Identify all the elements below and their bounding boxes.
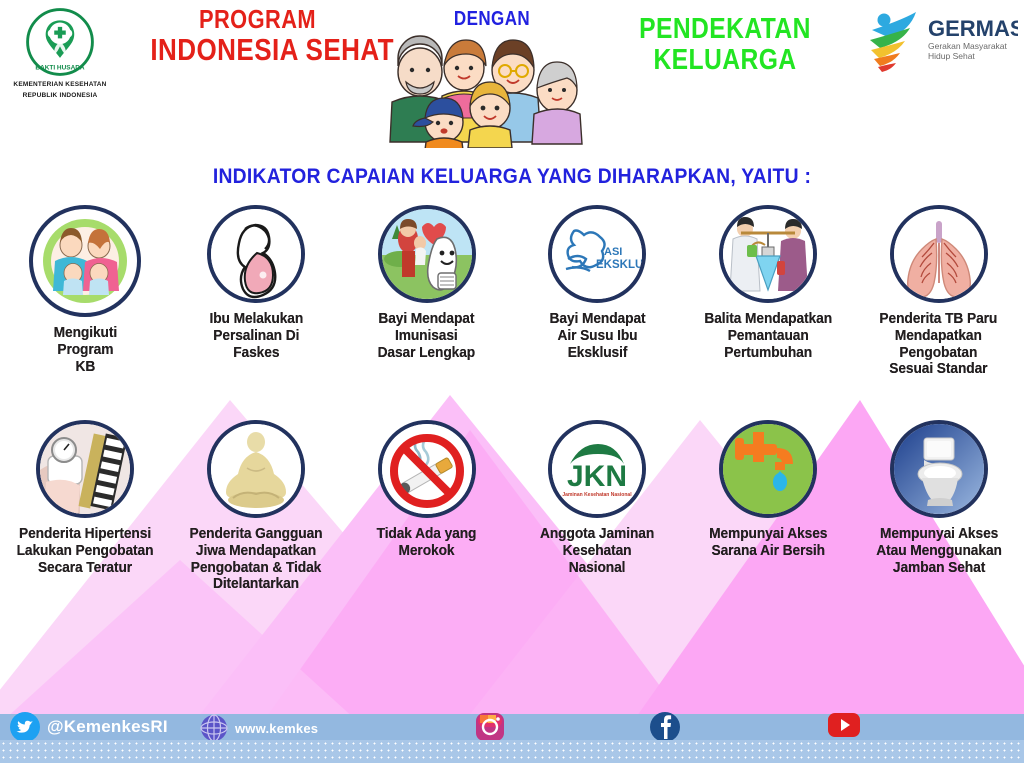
indicator-caption: Penderita HipertensiLakukan PengobatanSe…	[17, 526, 154, 576]
baby-weighing-scale-icon	[719, 205, 817, 303]
indicator-item[interactable]: ASI EKSKLUSIF Bayi MendapatAir Susu IbuE…	[512, 205, 683, 378]
facebook-group[interactable]	[650, 712, 680, 742]
ministry-logo-block: BAKTI HUSADA KEMENTERIAN KESEHATAN REPUB…	[4, 6, 116, 100]
indicator-caption: Anggota JaminanKesehatanNasional	[540, 526, 654, 576]
asi-icon-text-1: ASI	[604, 246, 622, 258]
water-tap-icon	[719, 420, 817, 518]
indicator-caption: Penderita TB ParuMendapatkan PengobatanS…	[858, 311, 1020, 378]
indicator-caption: MengikutiProgramKB	[54, 325, 117, 375]
indicator-item[interactable]: Balita MendapatkanPemantauanPertumbuhan	[683, 205, 854, 378]
indicator-item[interactable]: JKN Jaminan Kesehatan Nasional Anggota J…	[512, 420, 683, 593]
title-left-line2: INDONESIA SEHAT	[150, 34, 364, 67]
website-group[interactable]: www.kemkes	[200, 714, 318, 742]
jkn-tagline: Jaminan Kesehatan Nasional	[563, 492, 633, 498]
jkn-logo-icon: JKN Jaminan Kesehatan Nasional	[548, 420, 646, 518]
section-title: INDIKATOR CAPAIAN KELUARGA YANG DIHARAPK…	[41, 165, 983, 189]
indicator-item[interactable]: MengikutiProgramKB	[0, 205, 171, 378]
svg-text:BAKTI HUSADA: BAKTI HUSADA	[35, 64, 85, 71]
family-illustration	[382, 26, 587, 148]
lungs-icon	[890, 205, 988, 303]
blood-pressure-monitor-icon	[36, 420, 134, 518]
germas-tagline-2: Hidup Sehat	[928, 51, 975, 61]
pregnant-woman-icon	[207, 205, 305, 303]
title-right-line1: PENDEKATAN	[619, 14, 832, 45]
header: BAKTI HUSADA KEMENTERIAN KESEHATAN REPUB…	[0, 0, 1024, 155]
indicator-caption: Mempunyai AksesSarana Air Bersih	[709, 526, 827, 560]
germas-wordmark: GERMAS	[928, 16, 1018, 41]
indicator-caption: Mempunyai AksesAtau MenggunakanJamban Se…	[876, 526, 1002, 576]
indicator-item[interactable]: Mempunyai AksesSarana Air Bersih	[683, 420, 854, 593]
instagram-icon[interactable]	[475, 712, 505, 742]
footer-bottom-strip	[0, 740, 1024, 763]
twitter-handle-group[interactable]: @KemenkesRI	[10, 712, 168, 742]
no-smoking-icon	[378, 420, 476, 518]
youtube-group[interactable]	[828, 712, 860, 738]
indicator-item[interactable]: Penderita HipertensiLakukan PengobatanSe…	[0, 420, 171, 593]
title-left-line1: PROGRAM	[150, 6, 364, 34]
indicator-caption: Tidak Ada yangMerokok	[377, 526, 477, 560]
indicator-caption: Balita MendapatkanPemantauanPertumbuhan	[704, 311, 832, 361]
bakti-husada-logo: BAKTI HUSADA	[24, 6, 96, 78]
title-right-line2: KELUARGA	[619, 45, 832, 76]
meditation-figure-icon	[207, 420, 305, 518]
title-program-indonesia-sehat: PROGRAM INDONESIA SEHAT	[150, 6, 364, 66]
ministry-caption-line1: KEMENTERIAN KESEHATAN	[4, 81, 116, 89]
germas-tagline-1: Gerakan Masyarakat	[928, 41, 1008, 51]
youtube-icon[interactable]	[828, 712, 860, 738]
globe-icon[interactable]	[200, 714, 228, 742]
title-pendekatan-keluarga: PENDEKATAN KELUARGA	[619, 14, 832, 75]
immunization-syringe-icon	[378, 205, 476, 303]
indicator-item[interactable]: Penderita GangguanJiwa MendapatkanPengob…	[171, 420, 342, 593]
indicator-item[interactable]: Bayi MendapatImunisasiDasar Lengkap	[341, 205, 512, 378]
indicator-item[interactable]: Penderita TB ParuMendapatkan PengobatanS…	[853, 205, 1024, 378]
asi-eksklusif-icon: ASI EKSKLUSIF	[548, 205, 646, 303]
indicator-item[interactable]: Mempunyai AksesAtau MenggunakanJamban Se…	[853, 420, 1024, 593]
indicator-row-2: Penderita HipertensiLakukan PengobatanSe…	[0, 420, 1024, 593]
indicator-caption: Bayi MendapatAir Susu IbuEksklusif	[549, 311, 645, 361]
indicator-caption: Penderita GangguanJiwa MendapatkanPengob…	[190, 526, 323, 593]
indicator-row-1: MengikutiProgramKB Ibu MelakukanPersalin…	[0, 205, 1024, 378]
indicator-caption: Bayi MendapatImunisasiDasar Lengkap	[378, 311, 476, 361]
germas-logo: GERMAS Gerakan Masyarakat Hidup Sehat	[858, 6, 1018, 76]
ministry-caption-line2: REPUBLIK INDONESIA	[4, 92, 116, 100]
instagram-group[interactable]	[475, 712, 505, 742]
twitter-icon[interactable]	[10, 712, 40, 742]
website-url-text: www.kemkes	[235, 721, 318, 736]
indicator-item[interactable]: Tidak Ada yangMerokok	[341, 420, 512, 593]
facebook-icon[interactable]	[650, 712, 680, 742]
indicator-caption: Ibu MelakukanPersalinan DiFaskes	[209, 311, 303, 361]
toilet-icon	[890, 420, 988, 518]
asi-icon-text-2: EKSKLUSIF	[596, 259, 642, 271]
twitter-handle-text: @KemenkesRI	[47, 717, 168, 737]
family-planning-icon	[29, 205, 141, 317]
infographic-canvas: BAKTI HUSADA KEMENTERIAN KESEHATAN REPUB…	[0, 0, 1024, 763]
jkn-wordmark: JKN	[567, 460, 627, 493]
indicator-item[interactable]: Ibu MelakukanPersalinan DiFaskes	[171, 205, 342, 378]
